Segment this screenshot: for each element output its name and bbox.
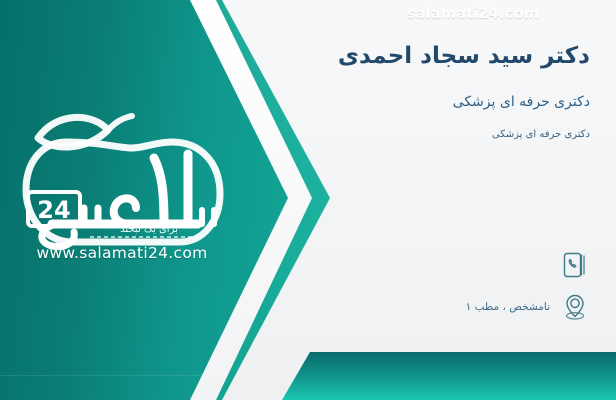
location-pin-icon[interactable] <box>558 290 592 324</box>
doctor-name: دکتر سید سجاد احمدی <box>280 42 590 71</box>
logo-tagline: برای یک لبخند <box>74 224 224 235</box>
logo-badge-number: 24 <box>37 196 70 224</box>
contact-row-location[interactable]: نامشخص ، مطب ۱ <box>292 290 592 324</box>
contact-row-phone[interactable] <box>292 248 592 282</box>
contact-location-text: نامشخص ، مطب ۱ <box>466 301 550 313</box>
logo-website-url: www.salamati24.com <box>12 244 232 262</box>
phone-book-icon[interactable] <box>558 248 592 282</box>
specialty-primary: دکتری حرفه ای پزشکی <box>280 93 590 113</box>
business-card: 24 برای یک لبخند www.salamati24.com دکتر… <box>0 0 616 400</box>
contact-list: نامشخص ، مطب ۱ <box>292 248 592 332</box>
profile-content: دکتر سید سجاد احمدی دکتری حرفه ای پزشکی … <box>280 0 590 142</box>
specialty-secondary: دکتری حرفه ای پزشکی <box>280 128 590 142</box>
brand-logo: 24 برای یک لبخند www.salamati24.com <box>12 96 232 276</box>
